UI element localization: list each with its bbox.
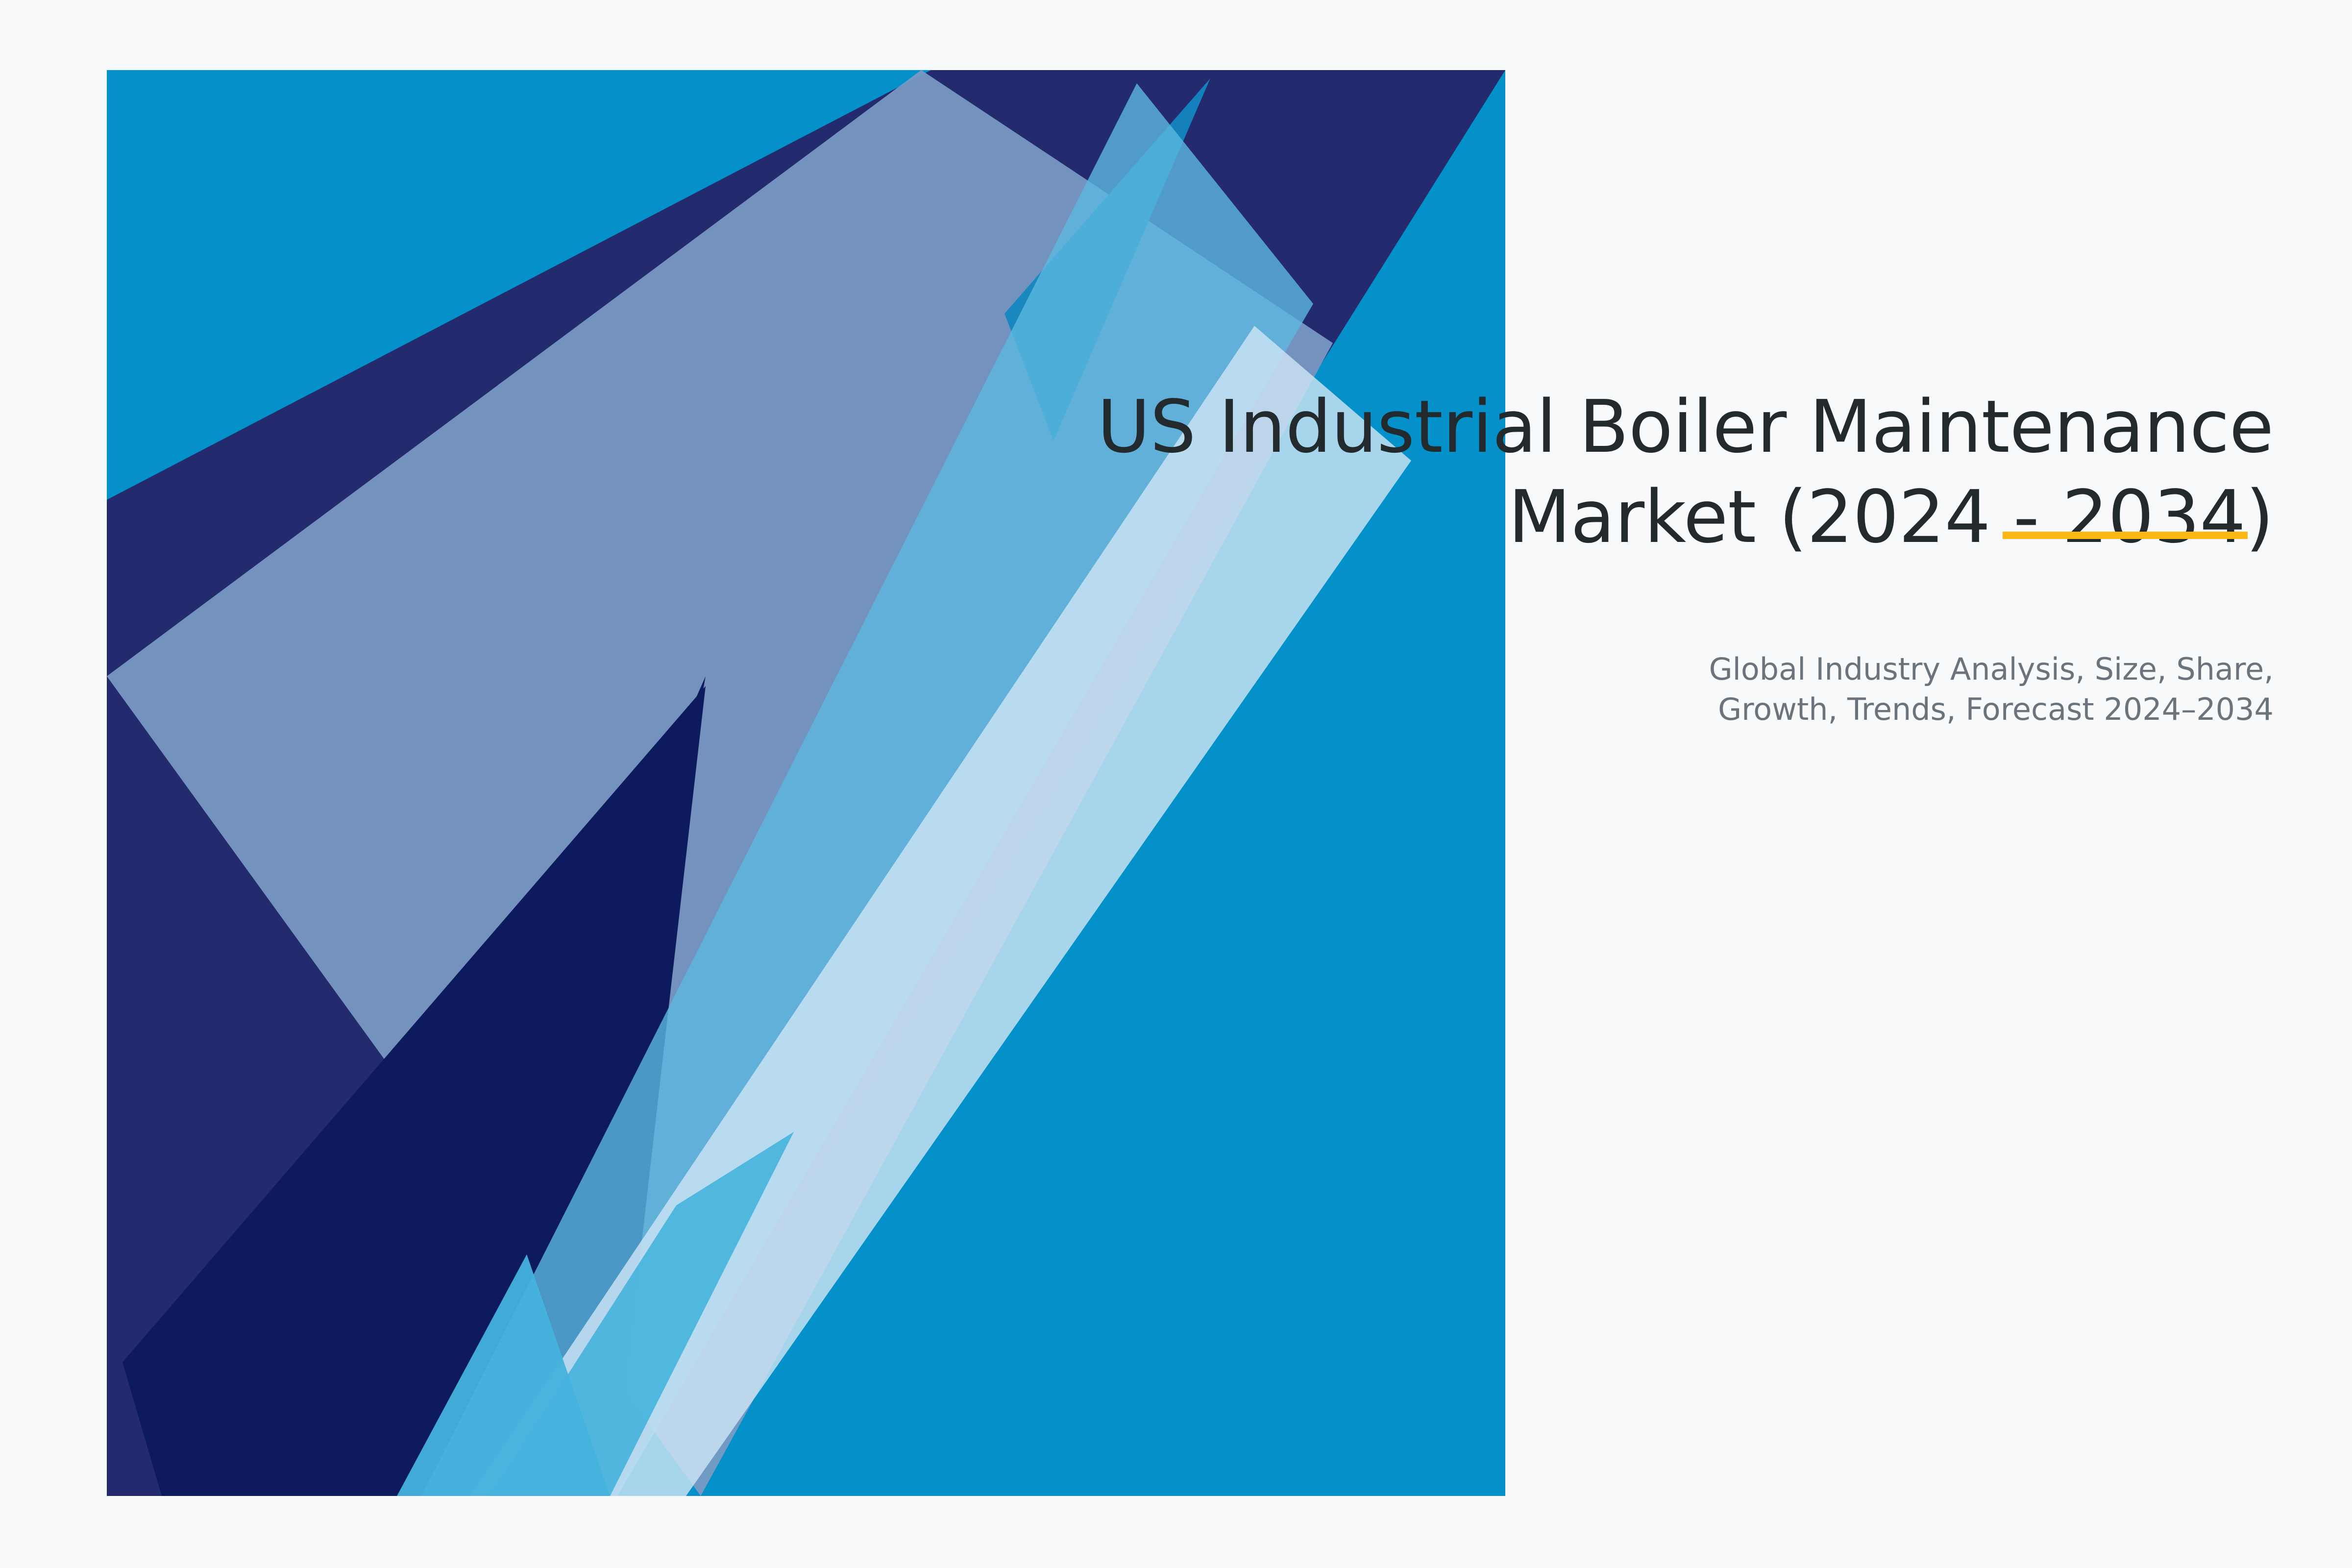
title-accent-underline <box>2003 532 2248 539</box>
cover-page: US Industrial Boiler Maintenance Market … <box>0 0 2352 1568</box>
page-subtitle: Global Industry Analysis, Size, Share, G… <box>1392 649 2274 730</box>
abstract-geometric-artwork <box>0 0 2352 1568</box>
